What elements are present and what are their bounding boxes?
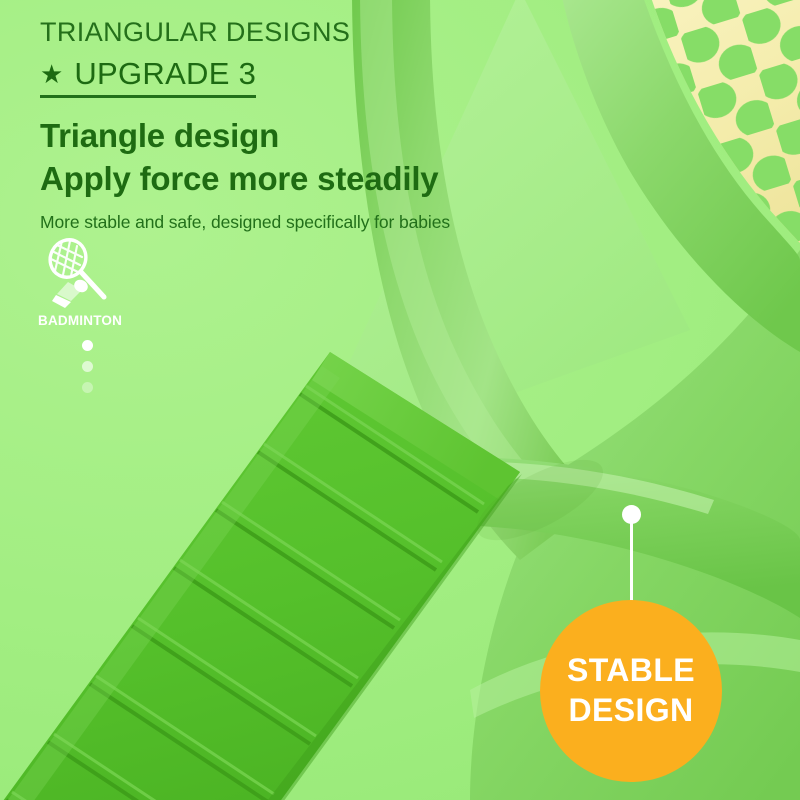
upgrade-badge: ★ UPGRADE 3 bbox=[40, 58, 256, 99]
scroll-dots bbox=[82, 340, 178, 393]
badge-line-1: STABLE bbox=[567, 651, 695, 691]
badminton-racket-shuttlecock-icon bbox=[38, 238, 116, 310]
shuttlecock-icon bbox=[52, 277, 90, 308]
brand-name: BADMINTON bbox=[38, 313, 178, 328]
upgrade-label: UPGRADE 3 bbox=[74, 58, 256, 91]
star-icon: ★ bbox=[40, 61, 63, 87]
badge-line-2: DESIGN bbox=[568, 691, 693, 731]
kicker-text: TRIANGULAR DESIGNS bbox=[40, 18, 600, 48]
scroll-dot-1 bbox=[82, 340, 93, 351]
headline-line-1: Triangle design bbox=[40, 114, 600, 157]
scroll-dot-2 bbox=[82, 361, 93, 372]
headline-line-2: Apply force more steadily bbox=[40, 157, 600, 200]
headline: Triangle design Apply force more steadil… bbox=[40, 114, 600, 200]
subheadline: More stable and safe, designed specifica… bbox=[40, 212, 600, 233]
scroll-dot-3 bbox=[82, 382, 93, 393]
marketing-copy: TRIANGULAR DESIGNS ★ UPGRADE 3 Triangle … bbox=[40, 18, 600, 233]
product-marketing-banner: TRIANGULAR DESIGNS ★ UPGRADE 3 Triangle … bbox=[0, 0, 800, 800]
stable-design-badge: STABLE DESIGN bbox=[540, 600, 722, 782]
brand-mark: BADMINTON bbox=[38, 238, 178, 403]
